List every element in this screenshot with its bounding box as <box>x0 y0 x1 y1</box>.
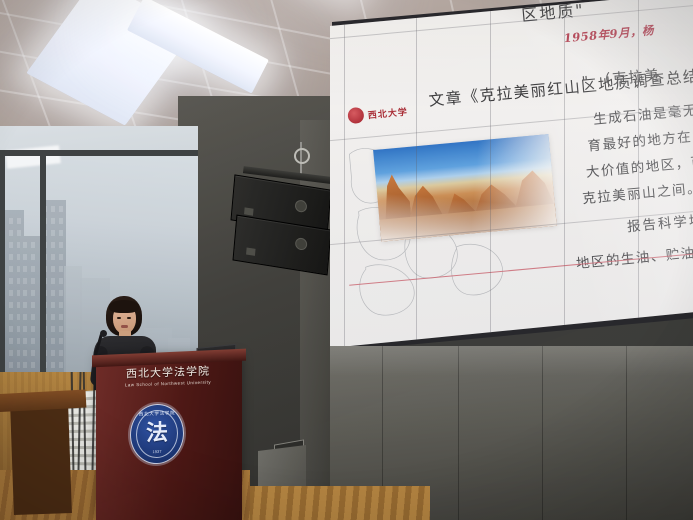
building-window <box>59 350 63 356</box>
building-window <box>59 362 63 368</box>
building-window <box>9 242 13 248</box>
building-window <box>59 302 63 308</box>
video-wall-display[interactable]: 西北大学 区地质" 1958年9月，杨 文章《克拉美丽红山区地质调查总结 " （… <box>330 0 693 372</box>
building-window <box>59 242 63 248</box>
university-seal-icon <box>347 107 364 124</box>
slide-body-line-2: 育最好的地方在乌鲁 <box>587 122 693 154</box>
panel-top-highlight <box>330 346 693 376</box>
presentation-slide: 西北大学 区地质" 1958年9月，杨 文章《克拉美丽红山区地质调查总结 " （… <box>330 0 693 372</box>
building-window <box>9 350 13 356</box>
building-window <box>17 218 21 224</box>
building-window <box>51 314 55 320</box>
building-window <box>59 206 63 212</box>
window-mullion-left <box>0 152 5 382</box>
building-window <box>31 302 35 308</box>
building-window <box>31 362 35 368</box>
building-window <box>23 326 27 332</box>
building-window <box>59 290 63 296</box>
building-window <box>51 290 55 296</box>
map-region-outline <box>358 262 416 318</box>
building-window <box>59 230 63 236</box>
building-window <box>51 350 55 356</box>
building-window <box>51 254 55 260</box>
window-mullion-mid <box>40 152 46 382</box>
building-window <box>23 290 27 296</box>
lecture-hall-photo: 西北大学 区地质" 1958年9月，杨 文章《克拉美丽红山区地质调查总结 " （… <box>0 0 693 520</box>
building-window <box>23 350 27 356</box>
slide-logo-label: 西北大学 <box>367 104 408 121</box>
side-table-leg <box>10 403 72 515</box>
building-window <box>51 338 55 344</box>
building-window <box>59 218 63 224</box>
building-window <box>9 230 13 236</box>
building-window <box>9 314 13 320</box>
slide-university-logo: 西北大学 <box>347 100 423 127</box>
slide-date-author: 1958年9月，杨 <box>563 22 655 46</box>
building-window <box>59 254 63 260</box>
building-window <box>23 242 27 248</box>
building-window <box>31 290 35 296</box>
map-region-outline <box>449 241 504 297</box>
building-window <box>31 314 35 320</box>
speaker-badge <box>244 207 254 215</box>
speaker-port-icon <box>295 199 308 213</box>
eye-right <box>127 317 131 319</box>
building-window <box>9 338 13 344</box>
building-window <box>51 362 55 368</box>
presenter-bangs <box>109 300 139 313</box>
building-window <box>51 266 55 272</box>
building-window <box>9 218 13 224</box>
speaker-port-icon <box>295 237 308 251</box>
building-window <box>23 314 27 320</box>
building-window <box>9 266 13 272</box>
slide-photo-red-rock <box>373 134 557 242</box>
building-window <box>51 242 55 248</box>
building-window <box>31 266 35 272</box>
microphone-icon <box>100 330 107 337</box>
slide-body-line-5: 报告科学地 <box>626 208 693 235</box>
building-window <box>23 338 27 344</box>
building-window <box>23 362 27 368</box>
building-window <box>51 218 55 224</box>
presenter-mouth <box>121 325 128 328</box>
building-window <box>51 302 55 308</box>
building-window <box>59 338 63 344</box>
building-window <box>23 302 27 308</box>
building-window <box>9 278 13 284</box>
building-window <box>9 290 13 296</box>
building-window <box>51 206 55 212</box>
building-window <box>59 266 63 272</box>
building-window <box>31 278 35 284</box>
slide-body-line-4: 克拉美丽山之间。 " <box>581 175 693 207</box>
podium-brand: 西北大学法学院 Law School of Northwest Universi… <box>112 362 224 388</box>
speaker-badge <box>246 247 256 255</box>
speaker-hook-icon <box>294 148 310 164</box>
building-window <box>9 362 13 368</box>
eye-left <box>117 317 121 319</box>
building-window <box>23 278 27 284</box>
building-window <box>51 326 55 332</box>
emblem-year: 1937 <box>131 448 183 455</box>
building-window <box>51 278 55 284</box>
building-window <box>51 230 55 236</box>
building-window <box>31 242 35 248</box>
emblem-arc-text: 西北大学法学院 <box>131 410 183 418</box>
building-window <box>59 278 63 284</box>
building-window <box>9 302 13 308</box>
building-window <box>59 314 63 320</box>
window-frame-top <box>0 150 198 156</box>
building-window <box>23 266 27 272</box>
building-window <box>31 254 35 260</box>
building-window <box>31 338 35 344</box>
building-window <box>9 254 13 260</box>
building-window <box>23 254 27 260</box>
building-window <box>59 326 63 332</box>
slide-body-line-1: 生成石油是毫无疑问 <box>592 96 693 128</box>
building-window <box>9 326 13 332</box>
slide-body-line-3: 大价值的地区，可能 <box>585 149 693 181</box>
building-window <box>31 350 35 356</box>
photo-soft-edge <box>373 134 557 242</box>
building-window <box>31 326 35 332</box>
